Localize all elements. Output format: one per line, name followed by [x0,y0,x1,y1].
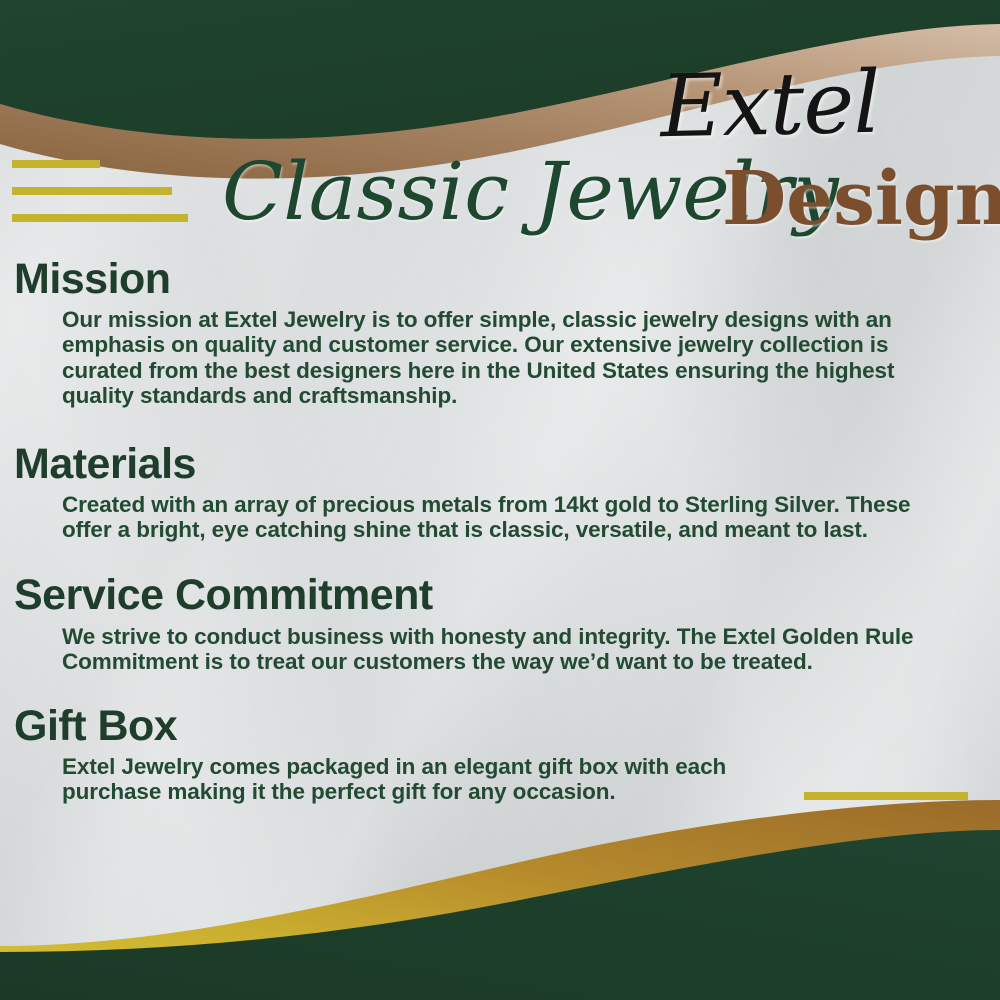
accent-rules-top-left [12,160,188,241]
section-heading-gift-box: Gift Box [14,702,1000,750]
accent-rule [12,214,188,222]
section-body-materials: Created with an array of precious metals… [62,492,966,542]
section-heading-service-commitment: Service Commitment [14,571,1000,619]
section-body-gift-box: Extel Jewelry comes packaged in an elega… [62,754,760,804]
section-gift-box: Gift Box Extel Jewelry comes packaged in… [0,702,1000,805]
section-body-service-commitment: We strive to conduct business with hones… [62,624,966,674]
section-service-commitment: Service Commitment We strive to conduct … [0,571,1000,674]
section-heading-materials: Materials [14,440,1000,488]
content-sections: Mission Our mission at Extel Jewelry is … [0,255,1000,805]
accent-rule [780,819,968,827]
accent-rule [736,846,968,854]
poster-canvas: Extel Classic Jewelry Design Mission Our… [0,0,1000,1000]
accent-rule [12,160,100,168]
section-mission: Mission Our mission at Extel Jewelry is … [0,255,1000,408]
section-materials: Materials Created with an array of preci… [0,440,1000,543]
brand-logo: Extel [599,58,941,151]
accent-rule [12,187,172,195]
section-body-mission: Our mission at Extel Jewelry is to offer… [62,307,966,408]
title-design: Design [722,162,1000,236]
section-heading-mission: Mission [14,255,1000,303]
